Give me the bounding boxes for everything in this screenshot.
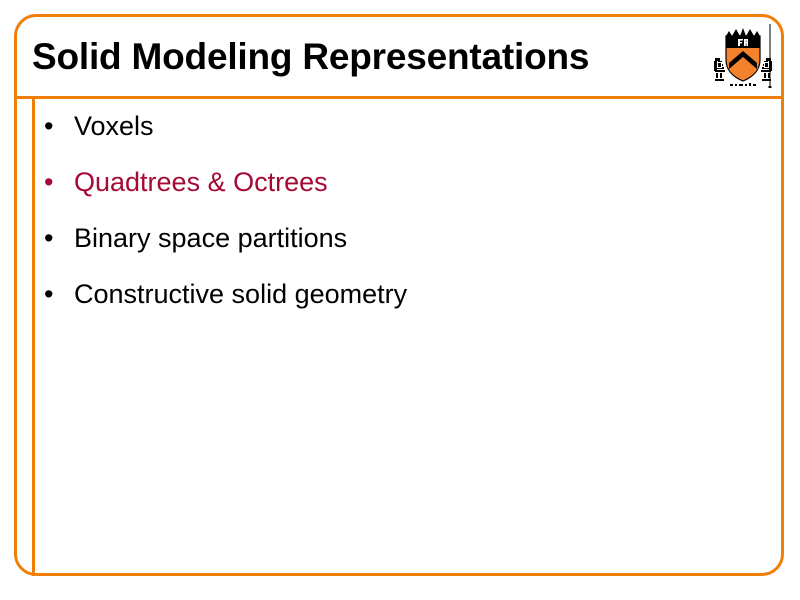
bullet-point-icon: • <box>44 166 74 198</box>
list-item-label: Binary space partitions <box>74 222 347 254</box>
list-item[interactable]: • Constructive solid geometry <box>44 278 744 334</box>
body-left-rule <box>32 99 35 576</box>
list-item[interactable]: • Quadtrees & Octrees <box>44 166 744 222</box>
bullet-point-icon: • <box>44 222 74 254</box>
list-item[interactable]: • Voxels <box>44 110 744 166</box>
presentation-slide: Solid Modeling Representations <box>0 0 800 600</box>
title-separator-rule <box>14 96 784 99</box>
list-item-label: Constructive solid geometry <box>74 278 407 310</box>
page-title: Solid Modeling Representations <box>32 37 589 74</box>
princeton-shield-logo <box>712 24 774 92</box>
list-item-label: Voxels <box>74 110 154 142</box>
list-item-label: Quadtrees & Octrees <box>74 166 328 198</box>
bullet-point-icon: • <box>44 110 74 142</box>
bullet-list: • Voxels • Quadtrees & Octrees • Binary … <box>44 110 744 334</box>
bullet-point-icon: • <box>44 278 74 310</box>
title-bar: Solid Modeling Representations <box>14 17 784 96</box>
list-item[interactable]: • Binary space partitions <box>44 222 744 278</box>
